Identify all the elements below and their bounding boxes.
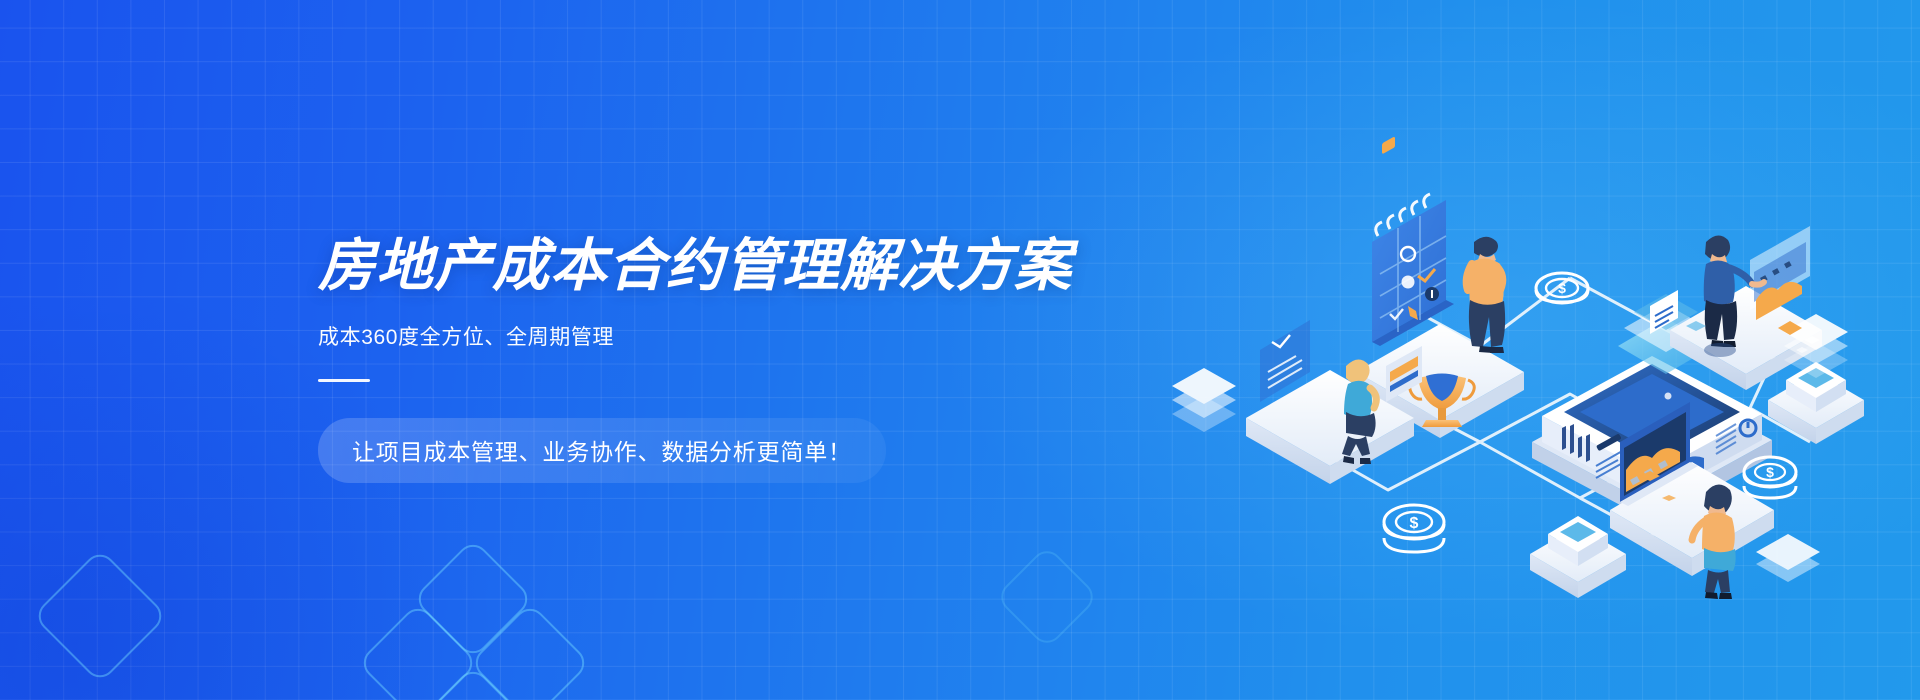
tagline-pill: 让项目成本管理、业务协作、数据分析更简单！ bbox=[318, 418, 886, 483]
page-subtitle: 成本360度全方位、全周期管理 bbox=[318, 324, 1138, 351]
calendar-board bbox=[1372, 136, 1454, 346]
svg-text:$: $ bbox=[1410, 515, 1419, 532]
decorative-diamond-icon bbox=[995, 545, 1100, 650]
svg-text:$: $ bbox=[1558, 280, 1566, 296]
decorative-diamond-icon bbox=[32, 548, 168, 684]
coin-stack-icon: $ bbox=[1384, 505, 1444, 552]
title-divider bbox=[318, 379, 370, 382]
decorative-diamond-icon bbox=[357, 602, 479, 700]
page-title: 房地产成本合约管理解决方案 bbox=[318, 236, 1138, 298]
decorative-diamond-icon bbox=[469, 602, 591, 700]
coin-stack-icon: $ bbox=[1536, 273, 1588, 303]
svg-text:$: $ bbox=[1766, 464, 1774, 480]
floating-plate-stack bbox=[1756, 534, 1820, 582]
standing-man-figure bbox=[1467, 237, 1505, 353]
hero-banner: 房地产成本合约管理解决方案 成本360度全方位、全周期管理 让项目成本管理、业务… bbox=[0, 0, 1920, 700]
decorative-diamond-icon bbox=[412, 665, 534, 700]
chart-screen bbox=[1750, 226, 1810, 320]
hero-illustration: $ bbox=[1150, 150, 1920, 570]
hero-text-block: 房地产成本合约管理解决方案 成本360度全方位、全周期管理 让项目成本管理、业务… bbox=[318, 236, 1138, 483]
decorative-diamond-icon bbox=[412, 538, 534, 660]
floating-plate-stack bbox=[1172, 368, 1236, 432]
